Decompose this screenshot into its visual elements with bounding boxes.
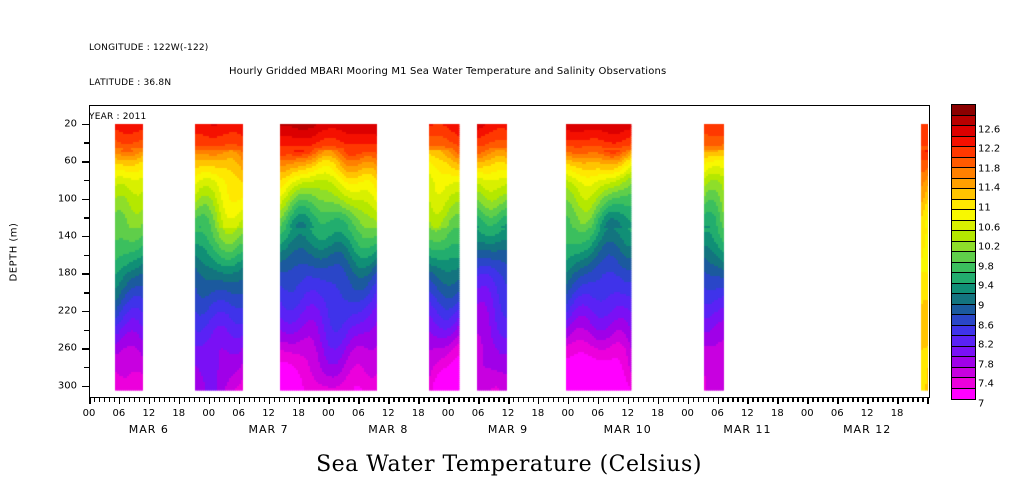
colorbar-tick-label: 9.4 [978, 281, 994, 292]
x-tick [653, 398, 655, 402]
x-tick [323, 398, 325, 402]
x-tick [224, 398, 226, 402]
x-hour-label: 06 [352, 408, 365, 419]
x-tick [897, 398, 899, 404]
x-tick [782, 398, 784, 402]
x-tick [134, 398, 136, 402]
y-tick [84, 330, 89, 332]
y-tick [82, 124, 89, 126]
y-tick [84, 180, 89, 182]
colorbar-swatch [952, 242, 975, 253]
x-day-label: MAR 7 [248, 423, 288, 436]
x-tick [209, 398, 211, 404]
x-tick [578, 398, 580, 402]
x-axis: 0006121800061218000612180006121800061218… [89, 398, 930, 442]
x-tick [94, 398, 96, 402]
x-tick [917, 398, 919, 402]
x-hour-label: 18 [532, 408, 545, 419]
x-hour-label: 06 [113, 408, 126, 419]
x-tick [737, 398, 739, 402]
x-tick [179, 398, 181, 404]
plot-title: Hourly Gridded MBARI Mooring M1 Sea Wate… [229, 66, 666, 77]
x-tick [892, 398, 894, 402]
x-hour-label: 00 [322, 408, 335, 419]
x-tick [618, 398, 620, 402]
x-tick [523, 398, 525, 402]
colorbar-tick-label: 12.2 [978, 144, 1000, 155]
x-hour-label: 18 [412, 408, 425, 419]
x-tick [787, 398, 789, 402]
y-tick [82, 273, 89, 275]
x-tick [802, 398, 804, 402]
x-tick [747, 398, 749, 404]
x-hour-label: 18 [172, 408, 185, 419]
x-tick [513, 398, 515, 402]
colorbar-swatch [952, 357, 975, 368]
x-tick [478, 398, 480, 404]
colorbar-labels: 12.612.211.811.41110.610.29.89.498.68.27… [978, 104, 1009, 400]
x-hour-label: 12 [142, 408, 155, 419]
x-tick [732, 398, 734, 402]
y-tick [82, 236, 89, 238]
colorbar-swatch [952, 368, 975, 379]
x-day-label: MAR 9 [488, 423, 528, 436]
x-tick [683, 398, 685, 402]
x-tick [867, 398, 869, 404]
colorbar-tick-label: 10.6 [978, 222, 1000, 233]
y-tick-label: 300 [58, 380, 77, 391]
x-tick [563, 398, 565, 402]
x-hour-label: 00 [83, 408, 96, 419]
colorbar-swatch [952, 336, 975, 347]
x-tick [338, 398, 340, 402]
x-tick [727, 398, 729, 402]
x-tick [648, 398, 650, 402]
x-tick [543, 398, 545, 402]
x-tick [812, 398, 814, 402]
x-tick [548, 398, 550, 402]
x-tick [99, 398, 101, 402]
x-tick [698, 398, 700, 402]
x-tick [927, 398, 929, 404]
x-tick [882, 398, 884, 402]
x-tick [877, 398, 879, 402]
x-tick [119, 398, 121, 404]
x-tick [658, 398, 660, 404]
x-tick [388, 398, 390, 404]
colorbar-tick-label: 11 [978, 203, 991, 214]
x-tick [423, 398, 425, 402]
x-tick [628, 398, 630, 404]
x-hour-label: 06 [232, 408, 245, 419]
x-tick [189, 398, 191, 402]
x-tick [363, 398, 365, 402]
x-hour-label: 12 [382, 408, 395, 419]
x-tick [159, 398, 161, 402]
x-tick [688, 398, 690, 404]
x-tick [663, 398, 665, 402]
x-tick [832, 398, 834, 402]
x-hour-label: 00 [202, 408, 215, 419]
colorbar-swatch [952, 179, 975, 190]
colorbar-swatch [952, 305, 975, 316]
plot-area [89, 105, 930, 398]
latitude-text: LATITUDE : 36.8N [89, 78, 209, 90]
x-day-label: MAR 12 [843, 423, 891, 436]
x-tick [772, 398, 774, 402]
x-tick [149, 398, 151, 404]
x-tick [249, 398, 251, 402]
x-tick [358, 398, 360, 404]
x-tick [752, 398, 754, 402]
x-tick [308, 398, 310, 402]
x-tick [239, 398, 241, 404]
x-hour-label: 06 [472, 408, 485, 419]
colorbar-tick-label: 8.6 [978, 320, 994, 331]
x-tick [463, 398, 465, 402]
x-tick [299, 398, 301, 404]
x-tick [767, 398, 769, 402]
x-tick [448, 398, 450, 404]
y-tick-label: 140 [58, 230, 77, 241]
x-tick [558, 398, 560, 402]
colorbar-tick-label: 11.8 [978, 163, 1000, 174]
x-tick [318, 398, 320, 402]
x-tick [847, 398, 849, 402]
y-tick [84, 255, 89, 257]
x-tick [433, 398, 435, 402]
x-tick [643, 398, 645, 402]
x-tick [353, 398, 355, 402]
longitude-text: LONGITUDE : 122W(-122) [89, 43, 209, 55]
x-tick [259, 398, 261, 402]
x-tick [568, 398, 570, 404]
colorbar-tick-label: 10.2 [978, 242, 1000, 253]
x-tick [872, 398, 874, 402]
colorbar-swatch [952, 105, 975, 116]
x-tick [822, 398, 824, 402]
colorbar-swatch [952, 263, 975, 274]
x-tick [398, 398, 400, 402]
x-tick [438, 398, 440, 402]
x-tick [518, 398, 520, 402]
x-tick [468, 398, 470, 402]
x-hour-label: 00 [561, 408, 574, 419]
x-tick [488, 398, 490, 402]
colorbar-tick-label: 9 [978, 301, 984, 312]
x-tick [378, 398, 380, 402]
x-tick [762, 398, 764, 402]
x-tick [887, 398, 889, 402]
x-tick [718, 398, 720, 404]
x-tick [862, 398, 864, 402]
x-tick [603, 398, 605, 402]
colorbar-swatch [952, 126, 975, 137]
x-tick [154, 398, 156, 402]
x-tick [194, 398, 196, 402]
x-tick [244, 398, 246, 402]
x-tick [104, 398, 106, 402]
x-hour-label: 12 [262, 408, 275, 419]
colorbar-swatch [952, 284, 975, 295]
colorbar-swatch [952, 221, 975, 232]
colorbar-tick-label: 7.4 [978, 379, 994, 390]
x-tick [703, 398, 705, 402]
y-tick-label: 260 [58, 343, 77, 354]
x-tick [857, 398, 859, 402]
x-tick [234, 398, 236, 402]
x-hour-label: 12 [741, 408, 754, 419]
x-tick [722, 398, 724, 402]
x-tick [598, 398, 600, 404]
x-tick [633, 398, 635, 402]
x-hour-label: 18 [292, 408, 305, 419]
x-tick [623, 398, 625, 402]
colorbar-swatch [952, 116, 975, 127]
x-tick [124, 398, 126, 402]
x-tick [742, 398, 744, 402]
x-tick [608, 398, 610, 402]
x-axis-title: Sea Water Temperature (Celsius) [316, 452, 702, 477]
x-tick [912, 398, 914, 402]
x-tick [229, 398, 231, 402]
temperature-contour-field [90, 106, 928, 396]
x-tick [428, 398, 430, 402]
x-tick [902, 398, 904, 402]
x-tick [328, 398, 330, 404]
y-axis-title: DEPTH (m) [9, 223, 20, 282]
x-tick [498, 398, 500, 402]
x-tick [588, 398, 590, 402]
x-tick [443, 398, 445, 402]
x-tick [777, 398, 779, 404]
y-tick-label: 60 [64, 156, 77, 167]
x-tick [383, 398, 385, 402]
y-tick [82, 199, 89, 201]
colorbar-tick-label: 7 [978, 399, 984, 410]
colorbar [951, 104, 976, 400]
colorbar-swatch [952, 389, 975, 400]
x-tick [613, 398, 615, 402]
x-tick [418, 398, 420, 404]
x-tick [144, 398, 146, 402]
x-tick [503, 398, 505, 402]
y-tick-label: 180 [58, 268, 77, 279]
x-tick [693, 398, 695, 402]
x-day-label: MAR 8 [368, 423, 408, 436]
x-tick [264, 398, 266, 402]
x-tick [473, 398, 475, 402]
colorbar-swatch [952, 189, 975, 200]
y-tick [84, 292, 89, 294]
x-tick [408, 398, 410, 402]
x-hour-label: 06 [831, 408, 844, 419]
x-tick [593, 398, 595, 402]
x-tick [842, 398, 844, 402]
x-tick [114, 398, 116, 402]
x-tick [673, 398, 675, 402]
x-hour-label: 12 [502, 408, 515, 419]
colorbar-swatch [952, 200, 975, 211]
x-tick [204, 398, 206, 402]
colorbar-swatch [952, 273, 975, 284]
x-hour-label: 00 [801, 408, 814, 419]
x-tick [373, 398, 375, 402]
x-tick [129, 398, 131, 402]
x-tick [139, 398, 141, 402]
colorbar-swatch [952, 147, 975, 158]
x-hour-label: 06 [591, 408, 604, 419]
x-day-label: MAR 10 [604, 423, 652, 436]
colorbar-swatch [952, 315, 975, 326]
x-tick [573, 398, 575, 402]
x-tick [403, 398, 405, 402]
x-hour-label: 00 [442, 408, 455, 419]
x-tick [303, 398, 305, 402]
x-hour-label: 12 [861, 408, 874, 419]
y-tick [84, 367, 89, 369]
x-tick [922, 398, 924, 402]
x-tick [528, 398, 530, 402]
x-tick [458, 398, 460, 402]
colorbar-tick-label: 12.6 [978, 124, 1000, 135]
x-hour-label: 18 [771, 408, 784, 419]
colorbar-tick-label: 11.4 [978, 183, 1000, 194]
x-tick [668, 398, 670, 402]
x-tick [797, 398, 799, 402]
x-tick [164, 398, 166, 402]
x-tick [483, 398, 485, 402]
x-tick [393, 398, 395, 402]
x-hour-label: 06 [711, 408, 724, 419]
y-tick [84, 217, 89, 219]
x-tick [289, 398, 291, 402]
x-tick [553, 398, 555, 402]
colorbar-swatch [952, 252, 975, 263]
y-tick [82, 348, 89, 350]
x-tick [219, 398, 221, 402]
colorbar-swatch [952, 158, 975, 169]
x-tick [348, 398, 350, 402]
colorbar-swatch [952, 168, 975, 179]
x-tick [583, 398, 585, 402]
x-tick [817, 398, 819, 402]
x-tick [678, 398, 680, 402]
y-tick-label: 220 [58, 305, 77, 316]
x-tick [284, 398, 286, 402]
x-tick [907, 398, 909, 402]
x-hour-label: 12 [621, 408, 634, 419]
x-tick [184, 398, 186, 402]
y-tick [82, 161, 89, 163]
x-tick [89, 398, 91, 404]
x-tick [279, 398, 281, 402]
x-hour-label: 18 [651, 408, 664, 419]
colorbar-tick-label: 9.8 [978, 261, 994, 272]
colorbar-tick-label: 7.8 [978, 359, 994, 370]
x-tick [757, 398, 759, 402]
x-tick [109, 398, 111, 402]
x-tick [333, 398, 335, 402]
colorbar-swatch [952, 378, 975, 389]
y-tick [84, 142, 89, 144]
x-hour-label: 00 [681, 408, 694, 419]
x-tick [638, 398, 640, 402]
x-tick [538, 398, 540, 404]
x-tick [169, 398, 171, 402]
x-tick [508, 398, 510, 404]
x-tick [792, 398, 794, 402]
colorbar-swatch [952, 326, 975, 337]
x-tick [837, 398, 839, 404]
x-hour-label: 18 [891, 408, 904, 419]
colorbar-tick-label: 8.2 [978, 340, 994, 351]
x-tick [174, 398, 176, 402]
colorbar-swatch [952, 231, 975, 242]
y-tick-label: 100 [58, 193, 77, 204]
x-tick [254, 398, 256, 402]
x-tick [269, 398, 271, 404]
x-tick [214, 398, 216, 402]
x-tick [807, 398, 809, 404]
x-tick [199, 398, 201, 402]
x-tick [708, 398, 710, 402]
x-tick [294, 398, 296, 402]
x-tick [713, 398, 715, 402]
colorbar-swatch [952, 137, 975, 148]
y-tick-label: 20 [64, 118, 77, 129]
x-tick [274, 398, 276, 402]
x-tick [313, 398, 315, 402]
x-day-label: MAR 11 [723, 423, 771, 436]
y-tick [82, 311, 89, 313]
x-tick [852, 398, 854, 402]
colorbar-swatch [952, 347, 975, 358]
x-tick [368, 398, 370, 402]
colorbar-swatch [952, 294, 975, 305]
y-tick [82, 386, 89, 388]
x-tick [533, 398, 535, 402]
x-day-label: MAR 6 [129, 423, 169, 436]
colorbar-swatch [952, 210, 975, 221]
x-tick [453, 398, 455, 402]
x-tick [827, 398, 829, 402]
x-tick [413, 398, 415, 402]
x-tick [343, 398, 345, 402]
x-tick [493, 398, 495, 402]
